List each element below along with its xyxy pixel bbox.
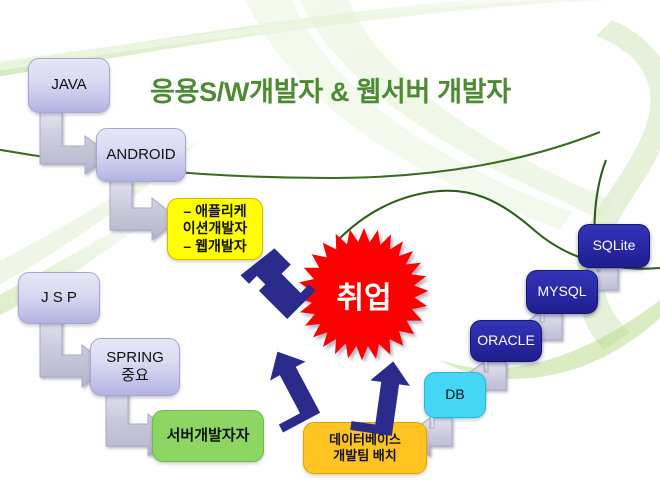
slide-canvas: 취업 응용S/W개발자 & 웹서버 개발자 JAVA ANDROID – 애플리… [0,0,660,483]
blue-arrow-from-appdev [241,245,317,321]
blue-arrow-from-dbteam [350,357,413,438]
blue-arrow-from-serverdev [248,342,330,432]
page-title: 응용S/W개발자 & 웹서버 개발자 [150,70,590,109]
